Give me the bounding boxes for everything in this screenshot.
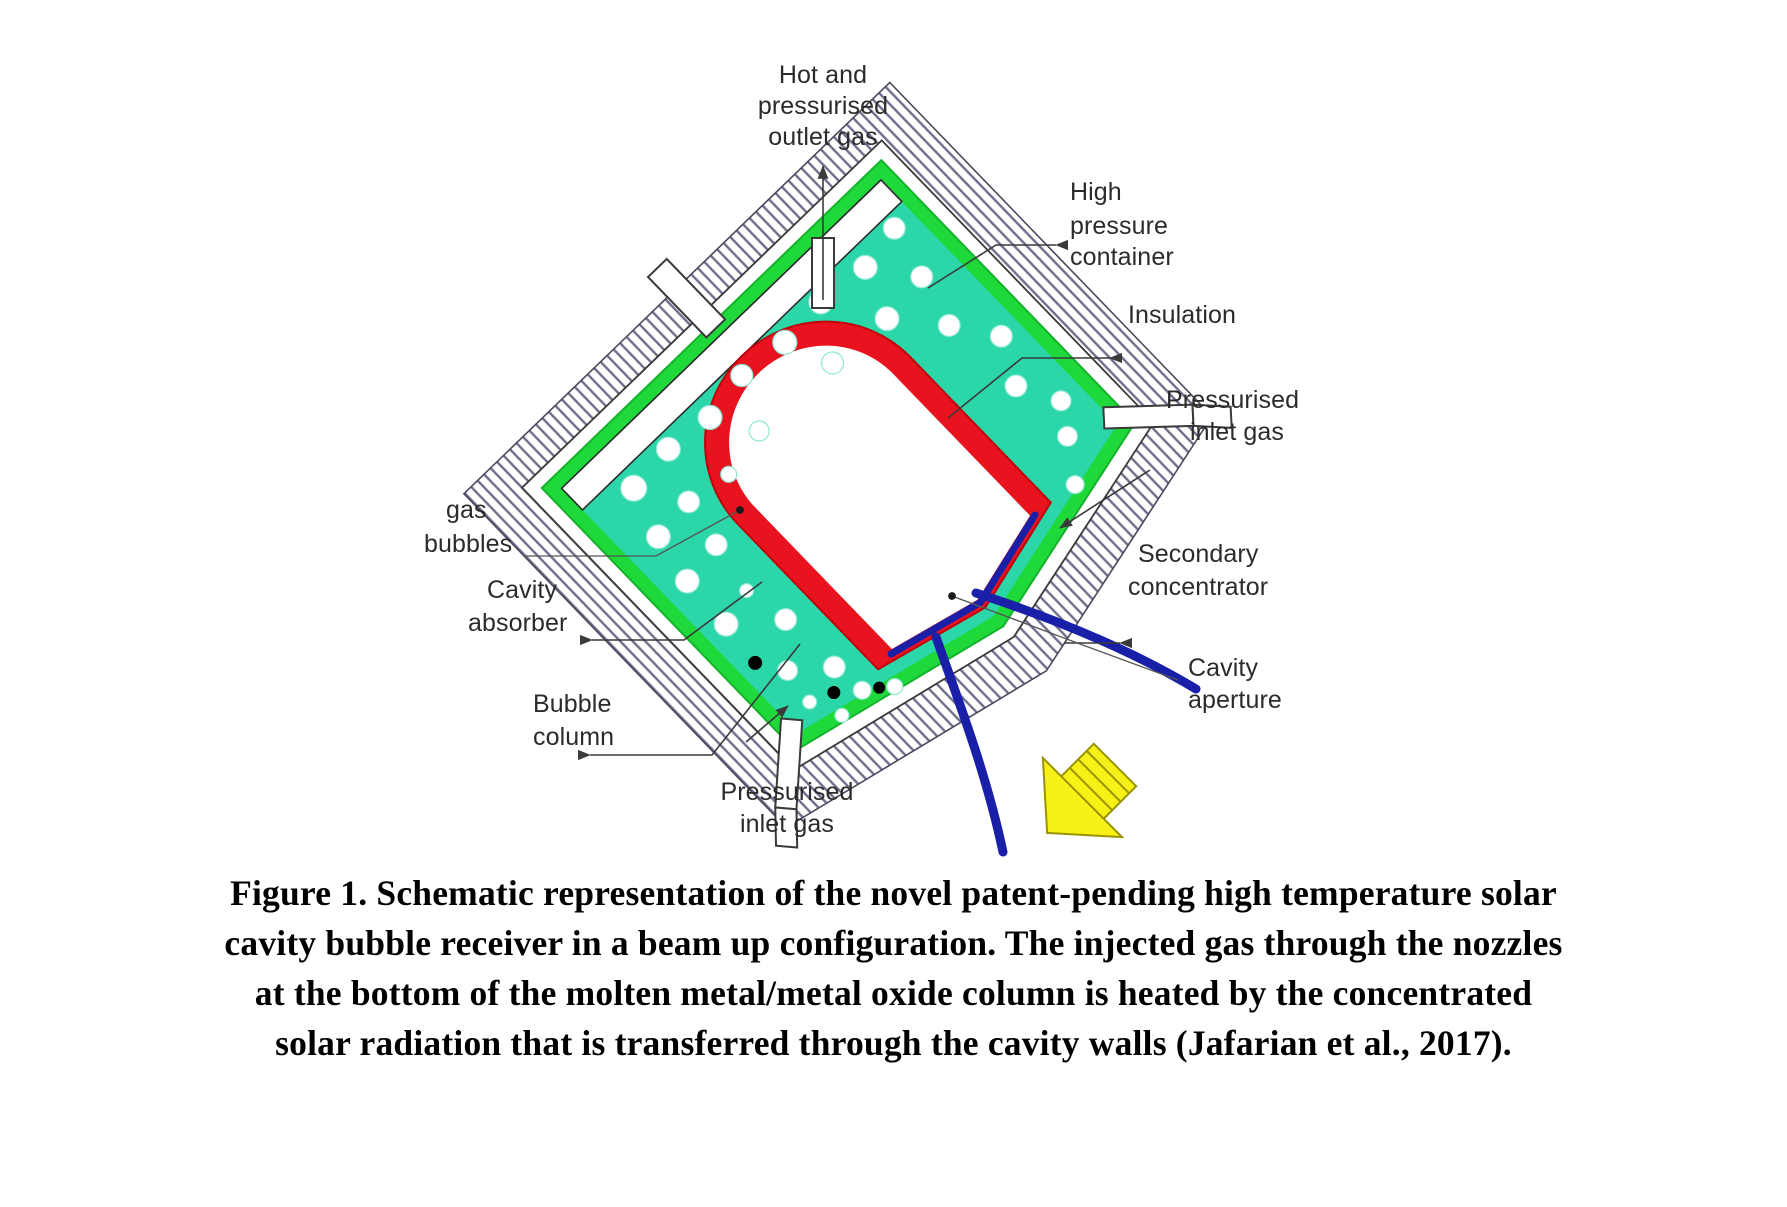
caption-line-3: at the bottom of the molten metal/metal … (50, 968, 1737, 1018)
label-bubble-column-line1: Bubble (533, 690, 611, 718)
label-cavity-aperture-line2: aperture (1188, 686, 1282, 714)
label-cavity-aperture: Cavity aperture (1188, 654, 1282, 714)
label-gas-bubbles-line1: gas (446, 496, 487, 524)
label-inlet-gas-bottom-line1: Pressurised (720, 778, 853, 806)
label-inlet-gas-right-line2: inlet gas (1190, 418, 1284, 446)
diagram-canvas: Hot and pressurised outlet gas High pres… (0, 0, 1787, 860)
label-outlet-gas-line3: outlet gas (768, 123, 877, 151)
label-bubble-column-line2: column (533, 723, 614, 751)
label-inlet-gas-right-line1: Pressurised (1166, 386, 1299, 414)
caption-line-4: solar radiation that is transferred thro… (50, 1018, 1737, 1068)
label-inlet-gas-bottom-line2: inlet gas (740, 810, 834, 838)
solar-beam-arrow-body (1008, 725, 1155, 860)
label-secondary-line1: Secondary (1138, 540, 1259, 568)
label-insulation: Insulation (1128, 301, 1236, 329)
figure-container: Hot and pressurised outlet gas High pres… (0, 0, 1787, 1207)
figure-caption: Figure 1. Schematic representation of th… (50, 868, 1737, 1068)
label-cavity-absorber-line2: absorber (468, 609, 567, 637)
label-insulation-text: Insulation (1128, 301, 1236, 329)
label-cavity-absorber: Cavity absorber (468, 576, 567, 637)
solar-beam-arrow (1008, 725, 1155, 860)
label-outlet-gas-line2: pressurised (758, 92, 888, 120)
label-bubble-column: Bubble column (533, 690, 614, 751)
label-high-pressure-container: High pressure container (1070, 178, 1174, 271)
label-high-pressure-line1: High (1070, 178, 1122, 206)
label-cavity-absorber-line1: Cavity (487, 576, 557, 604)
label-cavity-aperture-line1: Cavity (1188, 654, 1258, 682)
caption-line-1: Figure 1. Schematic representation of th… (50, 868, 1737, 918)
caption-line-2: cavity bubble receiver in a beam up conf… (50, 918, 1737, 968)
label-outlet-gas-line1: Hot and (779, 61, 867, 89)
label-high-pressure-line3: container (1070, 243, 1174, 271)
label-hot-pressurised-outlet-gas: Hot and pressurised outlet gas (758, 61, 888, 151)
label-gas-bubbles-line2: bubbles (424, 530, 512, 558)
label-secondary-line2: concentrator (1128, 573, 1268, 601)
label-high-pressure-line2: pressure (1070, 212, 1168, 240)
label-secondary-concentrator: Secondary concentrator (1128, 540, 1268, 601)
schematic-diagram: Hot and pressurised outlet gas High pres… (0, 0, 1787, 860)
